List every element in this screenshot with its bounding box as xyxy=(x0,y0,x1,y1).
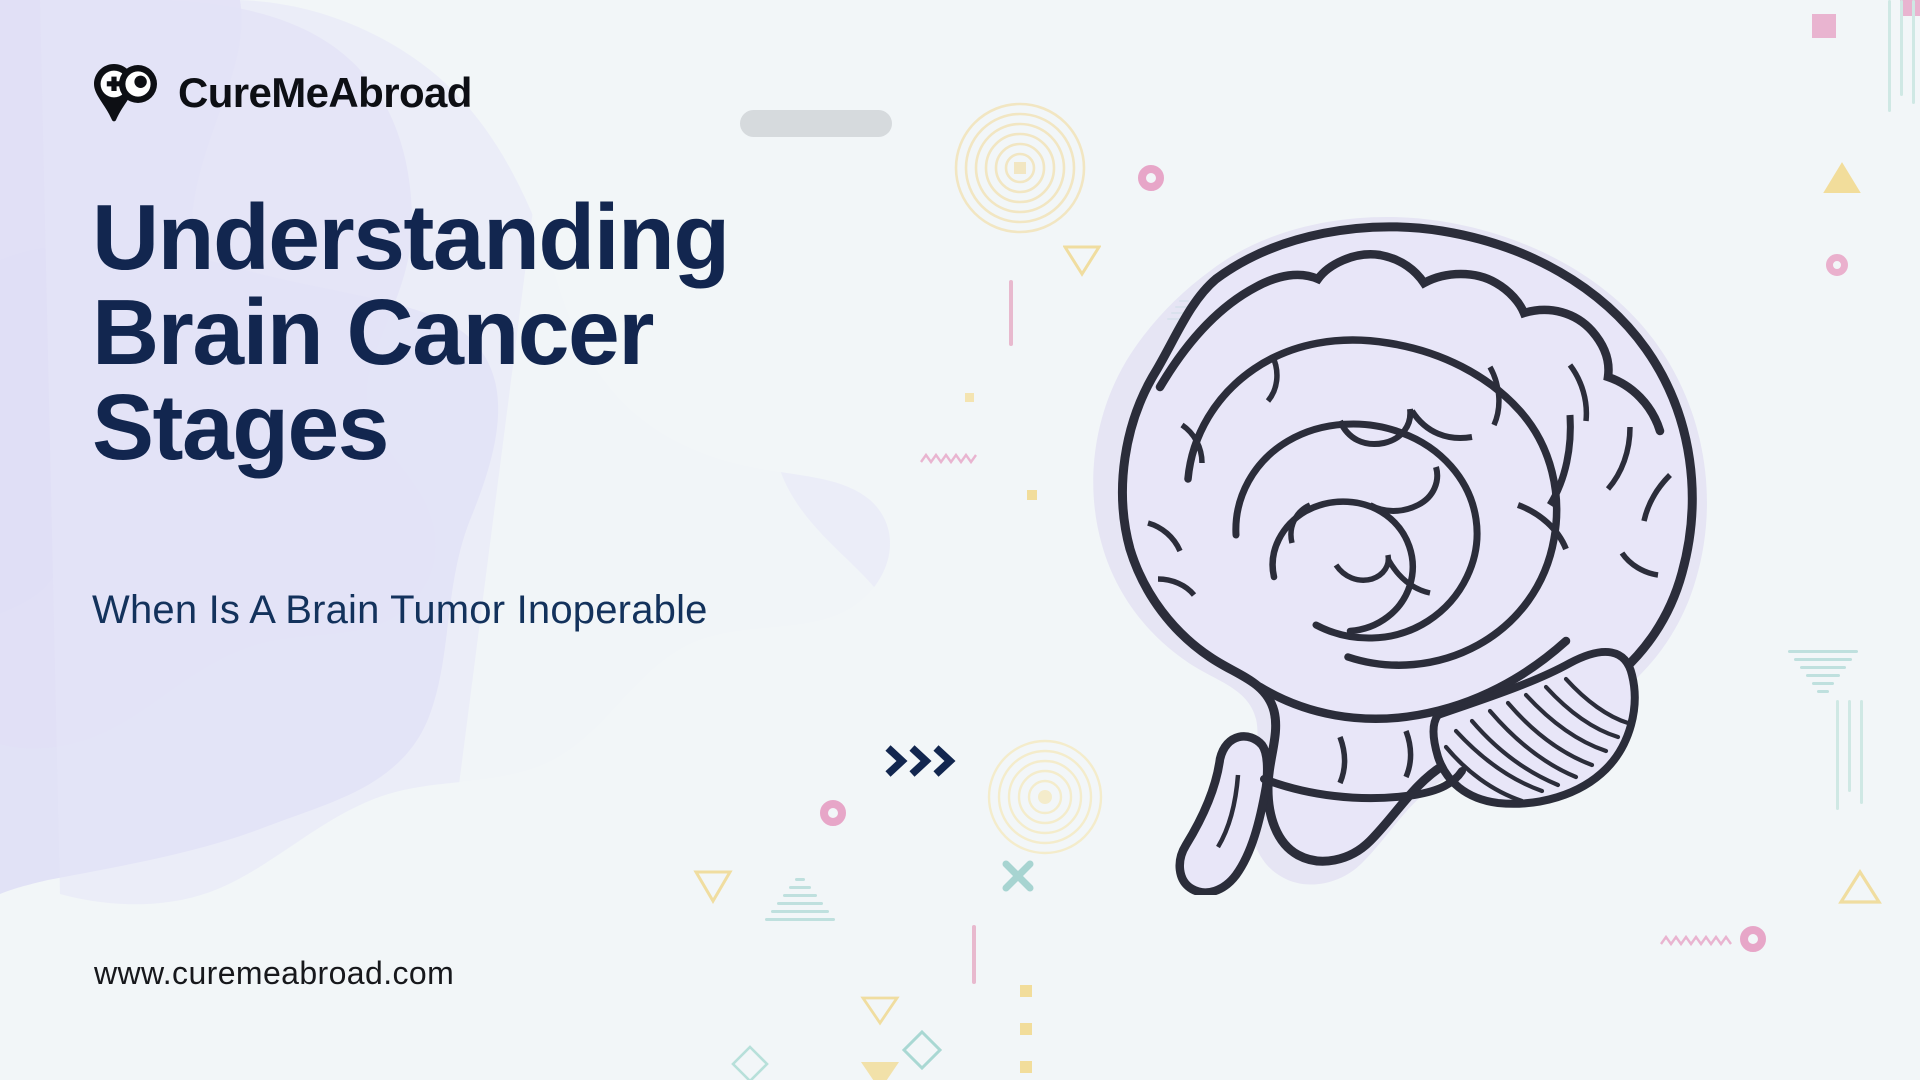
pink-vline-lower-decoration xyxy=(972,925,976,983)
pink-ring-right-decoration xyxy=(1826,254,1848,276)
page-title: Understanding Brain Cancer Stages xyxy=(92,190,1022,475)
teal-diamond-bottom-icon xyxy=(730,1044,770,1080)
pin-medical-cross-eye-logo-icon xyxy=(92,62,158,124)
pink-zigzag-bottom-decoration xyxy=(1660,934,1734,948)
brand-logo[interactable]: CureMeAbroad xyxy=(92,62,472,124)
pink-square-top-decoration xyxy=(1812,14,1836,38)
brain-illustration xyxy=(1010,175,1750,895)
gray-pill-decoration xyxy=(740,110,892,137)
yellow-dot-stack-decoration xyxy=(1020,985,1032,1073)
yellow-triangle-small-icon xyxy=(860,995,900,1027)
teal-vlines-right-decoration xyxy=(1830,700,1833,810)
pink-vline-dup-decoration xyxy=(972,926,976,984)
yellow-triangle-up-icon xyxy=(1822,160,1862,196)
pink-ring-mid-decoration xyxy=(820,800,846,826)
teal-vlines-midright-decoration xyxy=(1836,700,1863,810)
triple-chevron-right-icon[interactable] xyxy=(884,740,960,787)
poster-canvas: CureMeAbroad Understanding Brain Cancer … xyxy=(0,0,1920,1080)
hero-subtitle: When Is A Brain Tumor Inoperable xyxy=(92,588,708,633)
teal-diamond-outline-icon xyxy=(900,1028,944,1072)
yellow-triangle-down-lower-icon xyxy=(693,868,733,904)
teal-line-stack-right-decoration xyxy=(1788,650,1858,693)
yellow-triangle-outline-right-icon xyxy=(1838,868,1882,906)
pink-square-decoration xyxy=(1900,0,1920,16)
teal-vlines-topright-decoration xyxy=(1888,0,1915,112)
teal-vlines-bottomright-decoration xyxy=(1836,866,1839,930)
brand-name: CureMeAbroad xyxy=(178,69,472,117)
teal-line-stack-decoration xyxy=(765,878,835,921)
pink-ring-bottom-decoration xyxy=(1740,926,1766,952)
yellow-triangle-bottom-icon xyxy=(858,1060,902,1080)
website-url[interactable]: www.curemeabroad.com xyxy=(94,955,454,992)
hero-title-block: Understanding Brain Cancer Stages xyxy=(92,190,1022,475)
